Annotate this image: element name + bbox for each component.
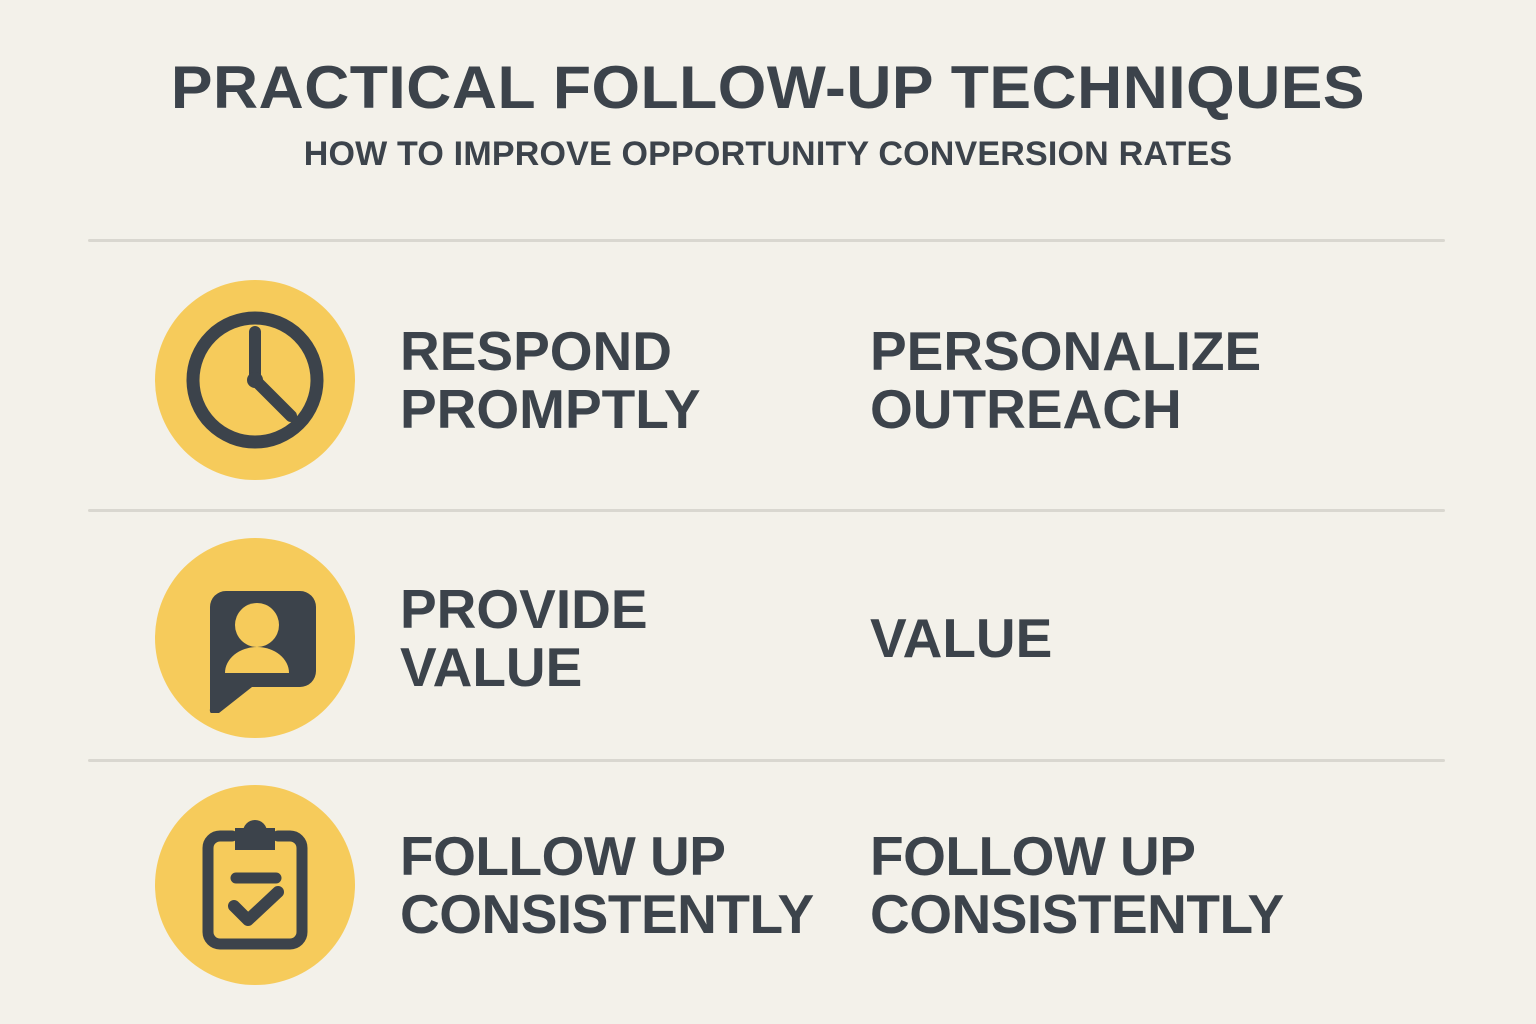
label-cell-right-2: VALUE [870, 609, 1430, 667]
label-cell-left-3: FOLLOW UP CONSISTENTLY [400, 827, 870, 944]
chat-person-icon-badge [155, 538, 355, 738]
label-cell-left-2: PROVIDE VALUE [400, 580, 870, 697]
divider-top [88, 239, 1445, 242]
technique-label-right-3-line1: FOLLOW UP [870, 827, 1430, 885]
infographic-poster: PRACTICAL FOLLOW-UP TECHNIQUES HOW TO IM… [0, 0, 1536, 1024]
technique-label-left-2-line2: VALUE [400, 638, 870, 696]
clipboard-check-icon-badge [155, 785, 355, 985]
label-cell-left-1: RESPOND PROMPTLY [400, 322, 870, 439]
technique-row-1: RESPOND PROMPTLY PERSONALIZE OUTREACH [0, 265, 1536, 495]
technique-label-left-3-line1: FOLLOW UP [400, 827, 870, 885]
icon-cell-3 [0, 770, 400, 1000]
technique-label-left-1-line1: RESPOND [400, 322, 870, 380]
technique-label-right-3-line2: CONSISTENTLY [870, 885, 1430, 943]
label-cell-right-1: PERSONALIZE OUTREACH [870, 322, 1430, 439]
technique-label-right-1-line2: OUTREACH [870, 380, 1430, 438]
technique-label-left-2-line1: PROVIDE [400, 580, 870, 638]
chat-person-icon [180, 563, 330, 713]
divider-bottom [88, 759, 1445, 762]
technique-label-right-1-line1: PERSONALIZE [870, 322, 1430, 380]
icon-cell-2 [0, 523, 400, 753]
page-subtitle: HOW TO IMPROVE OPPORTUNITY CONVERSION RA… [0, 136, 1536, 173]
technique-label-left-1-line2: PROMPTLY [400, 380, 870, 438]
clock-icon [175, 300, 335, 460]
header: PRACTICAL FOLLOW-UP TECHNIQUES HOW TO IM… [0, 56, 1536, 173]
clock-icon-badge [155, 280, 355, 480]
technique-row-2: PROVIDE VALUE VALUE [0, 523, 1536, 753]
page-title: PRACTICAL FOLLOW-UP TECHNIQUES [0, 56, 1536, 120]
technique-label-right-2-line1: VALUE [870, 609, 1430, 667]
label-cell-right-3: FOLLOW UP CONSISTENTLY [870, 827, 1430, 944]
clipboard-check-icon [180, 810, 330, 960]
icon-cell-1 [0, 265, 400, 495]
divider-middle [88, 509, 1445, 512]
technique-label-left-3-line2: CONSISTENTLY [400, 885, 870, 943]
technique-row-3: FOLLOW UP CONSISTENTLY FOLLOW UP CONSIST… [0, 770, 1536, 1000]
